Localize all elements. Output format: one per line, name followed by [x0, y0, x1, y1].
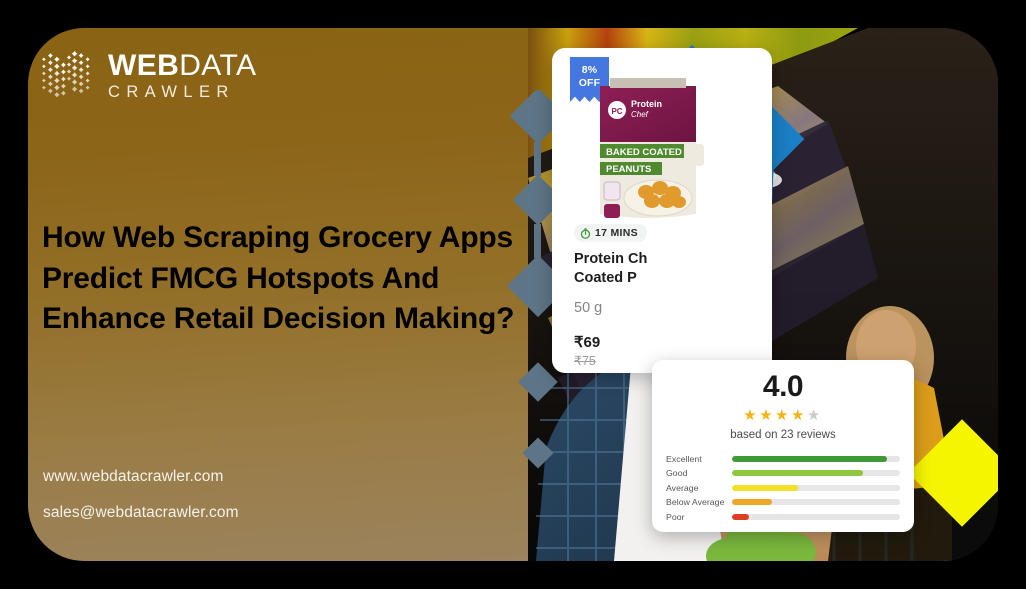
product-weight: 50 g	[574, 300, 602, 316]
brand-subtitle: CRAWLER	[108, 84, 256, 101]
rating-breakdown-track	[732, 456, 900, 462]
svg-text:Protein: Protein	[631, 99, 662, 109]
email-address[interactable]: sales@webdatacrawler.com	[43, 504, 239, 522]
website-url[interactable]: www.webdatacrawler.com	[43, 468, 239, 486]
svg-text:PEANUTS: PEANUTS	[606, 164, 651, 175]
stopwatch-icon	[580, 228, 591, 239]
delivery-time-pill: 17 MINS	[574, 224, 647, 242]
contact-info: www.webdatacrawler.com sales@webdatacraw…	[43, 468, 239, 522]
brand-name: WEBDATA	[108, 51, 256, 81]
dotted-w-mark-icon	[40, 50, 98, 104]
product-card[interactable]: 8% OFF PC Protein Chef BAKED COATED	[552, 48, 772, 373]
brand-name-light: DATA	[179, 49, 256, 82]
rating-card: 4.0 ★★★★★ based on 23 reviews ExcellentG…	[652, 360, 914, 532]
svg-text:Chef: Chef	[631, 110, 649, 119]
rating-breakdown-fill	[732, 499, 772, 505]
brand-wordmark: WEBDATA CRAWLER	[108, 51, 256, 103]
star-filled-icon: ★	[743, 407, 759, 424]
star-filled-icon: ★	[759, 407, 775, 424]
rating-breakdown-label: Average	[666, 483, 732, 493]
product-title-line1: Protein Ch	[574, 250, 734, 269]
rating-breakdown-label: Poor	[666, 512, 732, 522]
rating-breakdown-fill	[732, 485, 798, 491]
svg-text:PC: PC	[611, 107, 622, 116]
product-title: Protein Ch Coated P	[574, 250, 734, 289]
rating-breakdown-fill	[732, 456, 887, 462]
yellow-diamond-icon	[902, 413, 998, 533]
rating-breakdown-row: Excellent	[666, 452, 900, 467]
rating-breakdown-row: Good	[666, 466, 900, 481]
rating-breakdown-label: Below Average	[666, 497, 732, 507]
rating-breakdown-fill	[732, 470, 863, 476]
delivery-time-label: 17 MINS	[595, 227, 638, 239]
star-empty-icon: ★	[807, 407, 823, 424]
rating-score: 4.0	[666, 370, 900, 405]
rating-breakdown-track	[732, 470, 900, 476]
rating-breakdown-row: Below Average	[666, 495, 900, 510]
rating-breakdown-track	[732, 514, 900, 520]
rating-subtitle: based on 23 reviews	[666, 429, 900, 441]
page-title: How Web Scraping Grocery Apps Predict FM…	[42, 218, 532, 340]
star-filled-icon: ★	[775, 407, 791, 424]
rating-breakdown-track	[732, 499, 900, 505]
rating-breakdown: ExcellentGoodAverageBelow AveragePoor	[666, 452, 900, 525]
rating-breakdown-label: Excellent	[666, 454, 732, 464]
rating-breakdown-row: Average	[666, 481, 900, 496]
rating-breakdown-row: Poor	[666, 510, 900, 525]
poster-frame: 8% OFF PC Protein Chef BAKED COATED	[0, 0, 1026, 589]
product-price: ₹69	[574, 333, 600, 351]
rating-breakdown-label: Good	[666, 468, 732, 478]
product-title-line2: Coated P	[574, 269, 734, 288]
rating-breakdown-fill	[732, 514, 749, 520]
rating-breakdown-track	[732, 485, 900, 491]
brand-name-bold: WEB	[108, 49, 179, 82]
star-filled-icon: ★	[791, 407, 807, 424]
product-package-image: PC Protein Chef BAKED COATED PEANUTS	[584, 74, 712, 224]
poster-card: 8% OFF PC Protein Chef BAKED COATED	[28, 28, 998, 561]
svg-text:BAKED COATED: BAKED COATED	[606, 147, 682, 158]
star-rating: ★★★★★	[666, 408, 900, 423]
product-old-price: ₹75	[574, 353, 596, 368]
brand-logo[interactable]: WEBDATA CRAWLER	[40, 50, 256, 104]
